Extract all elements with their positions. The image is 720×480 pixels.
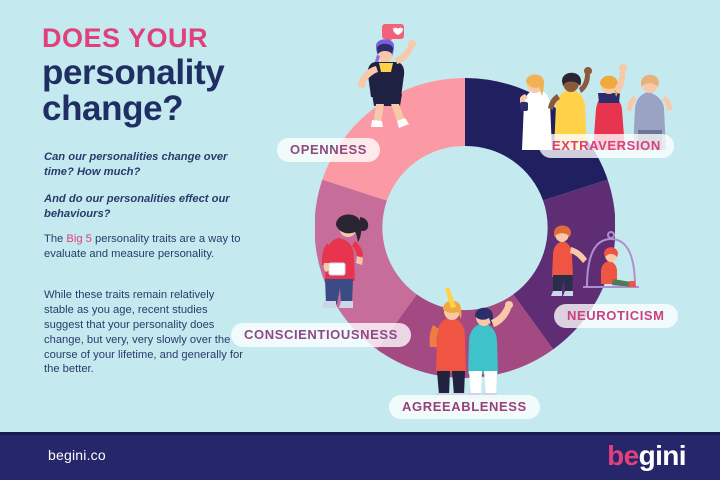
footer-top-rule: [0, 432, 720, 435]
chart-label-openness[interactable]: OPENNESS: [277, 138, 380, 162]
page-title-line-2: personality: [42, 55, 302, 91]
logo-text-be: be: [607, 440, 638, 471]
page-title-line-1: DOES YOUR: [42, 24, 302, 53]
page-title-line-3: change?: [42, 91, 302, 127]
illustration-agreeableness-couple-hugging: [425, 283, 517, 398]
stability-paragraph: While these traits remain relatively sta…: [44, 288, 244, 377]
chart-label-agreeableness[interactable]: AGREEABLENESS: [389, 395, 540, 419]
logo-text-gini: gini: [639, 440, 686, 471]
begini-logo[interactable]: begini: [607, 440, 686, 472]
illustration-conscientiousness-woman-with-notebook: [315, 205, 379, 317]
big5-highlight: Big 5: [66, 233, 92, 245]
illustration-openness-woman-jumping: [352, 22, 424, 132]
intro-paragraph-1: Can our personalities change over time? …: [44, 150, 244, 180]
big5-paragraph-prefix: The: [44, 233, 66, 245]
intro-paragraph-2: And do our personalities effect our beha…: [44, 192, 244, 222]
big5-paragraph: The Big 5 personality traits are a way t…: [44, 232, 244, 262]
chart-label-conscientiousness[interactable]: CONSCIENTIOUSNESS: [231, 323, 411, 347]
footer-website-url[interactable]: begini.co: [48, 447, 106, 463]
infographic-page: DOES YOUR personality change? Can our pe…: [0, 0, 720, 480]
chart-label-extraversion[interactable]: EXTRAVERSION: [539, 134, 674, 158]
chart-label-neuroticism[interactable]: NEUROTICISM: [554, 304, 678, 328]
headline-block: DOES YOUR personality change?: [42, 24, 302, 127]
footer-bar: begini.co begini: [0, 432, 720, 480]
illustration-neuroticism-glass-dome: [545, 215, 650, 300]
